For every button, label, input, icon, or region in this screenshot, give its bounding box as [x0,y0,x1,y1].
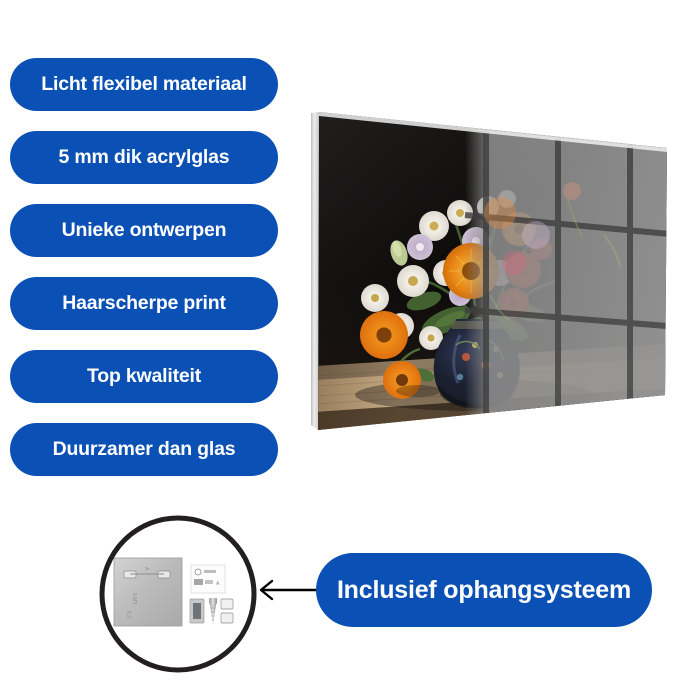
feature-badge-5-mm-dik-acrylglas[interactable]: 5 mm dik acrylglas [10,131,278,184]
feature-badge-haarscherpe-print[interactable]: Haarscherpe print [10,277,278,330]
svg-text:5 M3: 5 M3 [131,593,137,604]
feature-badge-licht-flexibel-materiaal[interactable]: Licht flexibel materiaal [10,58,278,111]
feature-badge-unieke-ontwerpen[interactable]: Unieke ontwerpen [10,204,278,257]
artwork-face [300,95,680,445]
feature-badge-label: Haarscherpe print [62,294,226,314]
feature-badge-top-kwaliteit[interactable]: Top kwaliteit [10,350,278,403]
mounting-kit-circle: A 5 M3 5 2 A [97,513,259,675]
mounting-kit-photo: A 5 M3 5 2 A [97,513,259,675]
feature-badge-duurzamer-dan-glas[interactable]: Duurzamer dan glas [10,423,278,476]
callout-badge-inclusief-ophangsysteem[interactable]: Inclusief ophangsysteem [316,553,652,627]
feature-badge-label: Licht flexibel materiaal [41,75,246,95]
feature-badge-label: 5 mm dik acrylglas [59,148,230,168]
mounting-plate: A 5 M3 5 2 [114,558,182,626]
glass-sheen [300,95,680,445]
callout-badge-label: Inclusief ophangsysteem [337,576,631,605]
feature-badge-label: Duurzamer dan glas [53,440,236,460]
acrylic-print-panel [300,95,680,445]
feature-badge-list: Licht flexibel materiaal 5 mm dik acrylg… [10,58,278,496]
feature-badge-label: Unieke ontwerpen [62,221,227,241]
acrylic-edge-thickness [311,112,319,430]
svg-text:5 2: 5 2 [125,611,131,618]
instruction-sheet: A [191,565,225,593]
feature-badge-label: Top kwaliteit [87,367,201,387]
